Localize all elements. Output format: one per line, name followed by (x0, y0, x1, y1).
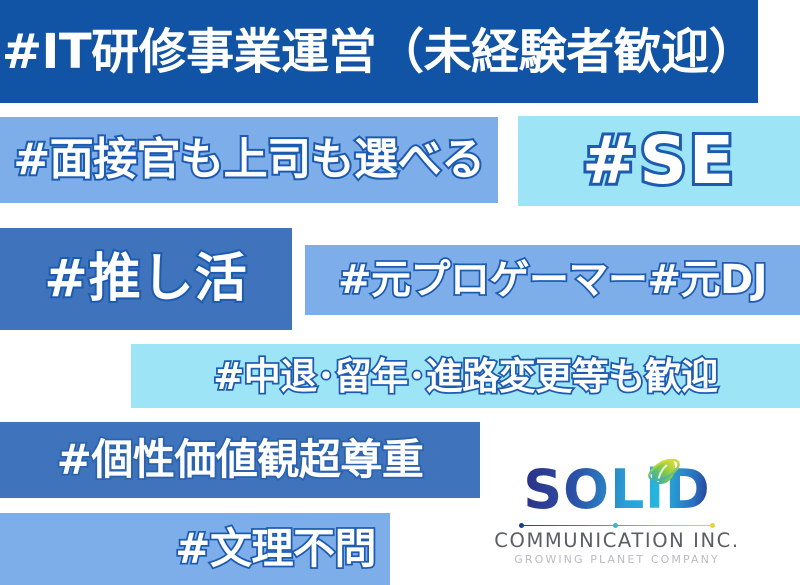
logo-wordmark-text: SOLiD (523, 462, 711, 518)
band-choose-interviewer: #面接官も上司も選べる (0, 117, 498, 203)
logo-dot-middle (613, 523, 618, 528)
leaf-swoosh-icon (647, 456, 681, 488)
band-dropout-welcome: #中退･留年･進路変更等も歓迎 (131, 344, 800, 408)
band-it-training: #IT研修事業運営（未経験者歓迎） (0, 0, 758, 103)
band-oshikatsu-text: #推し活 (44, 253, 248, 305)
band-any-major: #文理不問 (0, 513, 390, 585)
logo-wordmark: SOLiD (487, 462, 747, 518)
recruitment-poster: #IT研修事業運営（未経験者歓迎） #面接官も上司も選べる #SE #推し活 #… (0, 0, 800, 585)
band-bunri-text: #文理不問 (175, 528, 376, 570)
band-title-text: #IT研修事業運営（未経験者歓迎） (2, 28, 756, 76)
band-individuality-respect: #個性価値観超尊重 (0, 422, 480, 498)
band-ex-progamer-ex-dj: #元プロゲーマー#元DJ (305, 245, 800, 315)
logo-dot-left (519, 523, 524, 528)
band-individuality-text: #個性価値観超尊重 (57, 439, 424, 481)
logo-tagline: GROWING PLANET COMPANY (487, 553, 747, 567)
band-interviewer-text: #面接官も上司も選べる (13, 138, 484, 182)
logo-dot-right (710, 523, 715, 528)
logo-company-name: COMMUNICATION INC. (487, 530, 747, 552)
band-se: #SE (518, 116, 800, 206)
company-logo: SOLiD (487, 462, 747, 574)
band-gamer-text: #元プロゲーマー#元DJ (338, 260, 767, 300)
band-dropout-text: #中退･留年･進路変更等も歓迎 (213, 358, 718, 395)
logo-divider-line (519, 522, 715, 528)
band-oshikatsu: #推し活 (0, 228, 292, 330)
logo-subtext: COMMUNICATION INC. GROWING PLANET COMPAN… (487, 522, 747, 567)
band-se-text: #SE (582, 128, 736, 194)
